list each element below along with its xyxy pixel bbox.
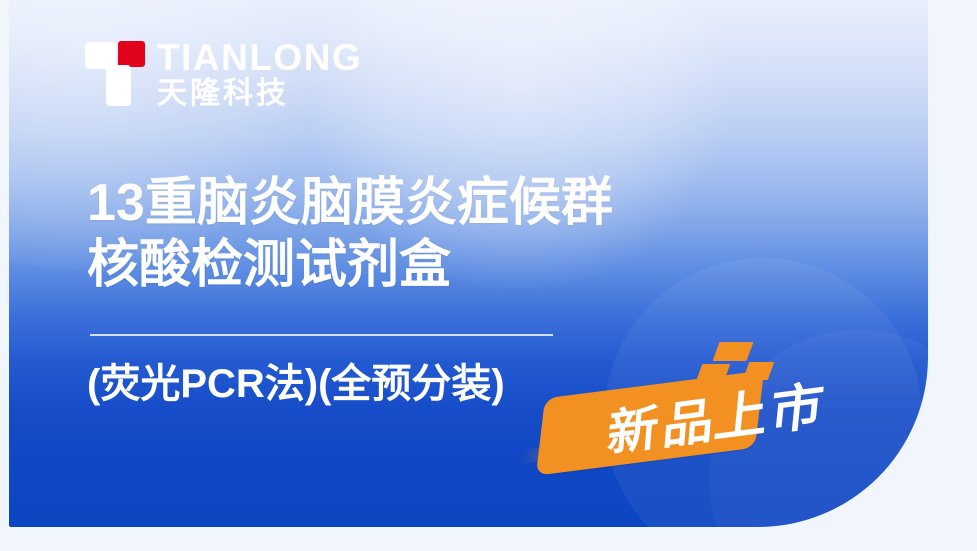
headline-divider (90, 334, 553, 336)
badge-outline-label: 上市 (711, 363, 831, 452)
tianlong-t-mark-icon (85, 38, 145, 106)
logo-red-square-icon (118, 41, 145, 67)
brand-name-en: TIANLONG (157, 40, 362, 76)
headline: 13重脑炎脑膜炎症候群 核酸检测试剂盒 (87, 172, 613, 296)
headline-line-2: 核酸检测试剂盒 (87, 234, 613, 296)
product-banner-card: TIANLONG 天隆科技 13重脑炎脑膜炎症候群 核酸检测试剂盒 (荧光PCR… (9, 0, 928, 527)
brand-logo[interactable]: TIANLONG 天隆科技 (85, 38, 362, 111)
subtitle: (荧光PCR法)(全预分装) (87, 358, 505, 410)
brand-name-cn: 天隆科技 (157, 77, 362, 111)
logo-white-stem-icon (106, 65, 131, 106)
new-product-launch-badge: 新品 上市 (533, 336, 863, 486)
banner-stage: TIANLONG 天隆科技 13重脑炎脑膜炎症候群 核酸检测试剂盒 (荧光PCR… (0, 0, 977, 551)
brand-logo-text: TIANLONG 天隆科技 (157, 38, 362, 111)
headline-line-1: 13重脑炎脑膜炎症候群 (87, 172, 613, 234)
badge-dash-icon-1 (713, 342, 754, 361)
